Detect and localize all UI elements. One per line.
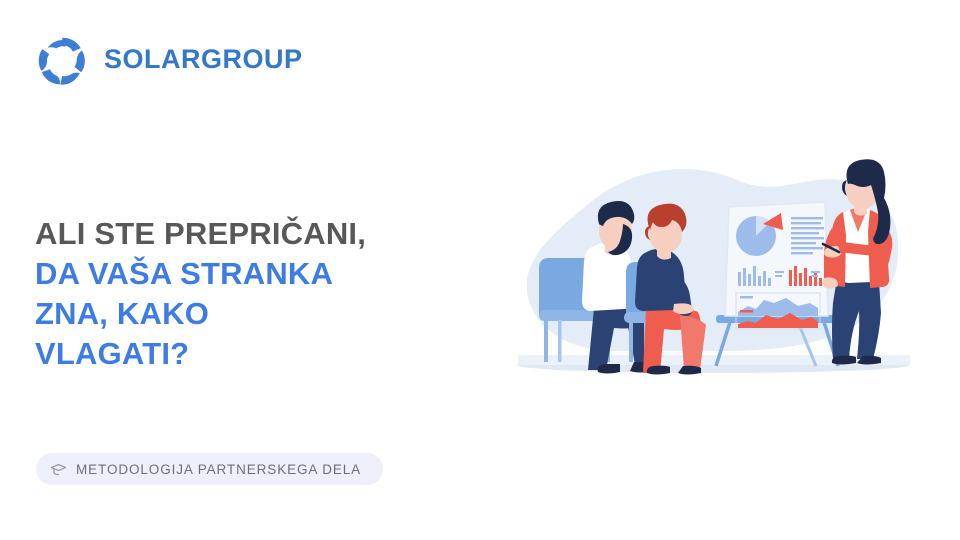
headline-line-4: VLAGATI? [35,334,505,374]
headline-line-3: ZNA, KAKO [35,294,505,334]
business-presentation-illustration [498,150,928,400]
page-title: ALI STE PREPRIČANI, DA VAŠA STRANKA ZNA,… [35,214,505,374]
brand-logo: SOLARGROUP [34,30,303,88]
solargroup-swirl-icon [34,30,92,88]
brand-name: SOLARGROUP [104,46,303,73]
status-badge: METODOLOGIJA PARTNERSKEGA DELA [36,453,383,485]
slide-root: SOLARGROUP ALI STE PREPRIČANI, DA VAŠA S… [0,0,960,540]
badge-label: METODOLOGIJA PARTNERSKEGA DELA [76,462,361,477]
graduation-cap-icon [50,461,67,478]
headline-line-2: DA VAŠA STRANKA [35,254,505,294]
headline-line-1: ALI STE PREPRIČANI, [35,214,505,254]
illustration-svg [498,150,928,400]
